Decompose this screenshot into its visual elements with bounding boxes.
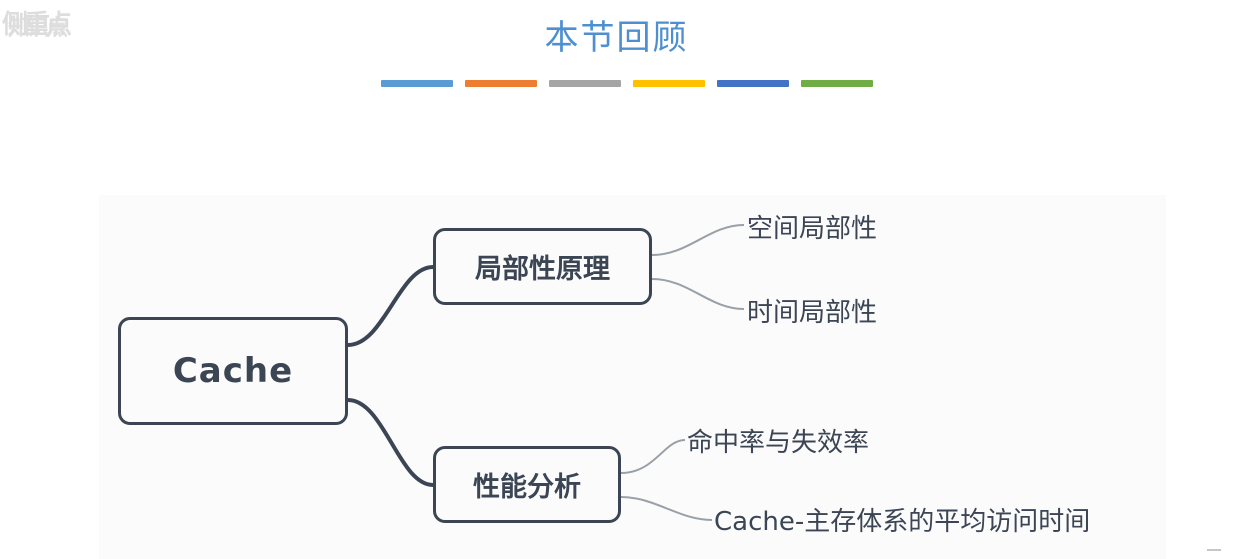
slide-canvas: 侧重点 知识点 本节回顾 Cache 局部性原理 性能分析 空间局部性	[0, 0, 1233, 559]
title-underline-bars	[381, 80, 873, 88]
bar-6	[801, 80, 873, 87]
mindmap-node-root[interactable]: Cache	[118, 317, 348, 425]
bar-4	[633, 80, 705, 87]
mindmap-node-performance[interactable]: 性能分析	[433, 446, 621, 523]
bar-3	[549, 80, 621, 87]
page-title: 本节回顾	[0, 10, 1233, 59]
mindmap-diagram: Cache 局部性原理 性能分析 空间局部性 时间局部性 命中率与失效率 Cac…	[99, 195, 1166, 559]
cursor-mark-icon	[1207, 549, 1221, 559]
bar-5	[717, 80, 789, 87]
bar-1	[381, 80, 453, 87]
mindmap-leaf-spatial-locality[interactable]: 空间局部性	[747, 208, 877, 245]
mindmap-node-locality[interactable]: 局部性原理	[433, 228, 652, 305]
mindmap-leaf-average-access-time[interactable]: Cache-主存体系的平均访问时间	[714, 501, 1090, 538]
bar-2	[465, 80, 537, 87]
mindmap-leaf-hit-miss-rate[interactable]: 命中率与失效率	[687, 422, 869, 459]
mindmap-leaf-temporal-locality[interactable]: 时间局部性	[747, 292, 877, 329]
